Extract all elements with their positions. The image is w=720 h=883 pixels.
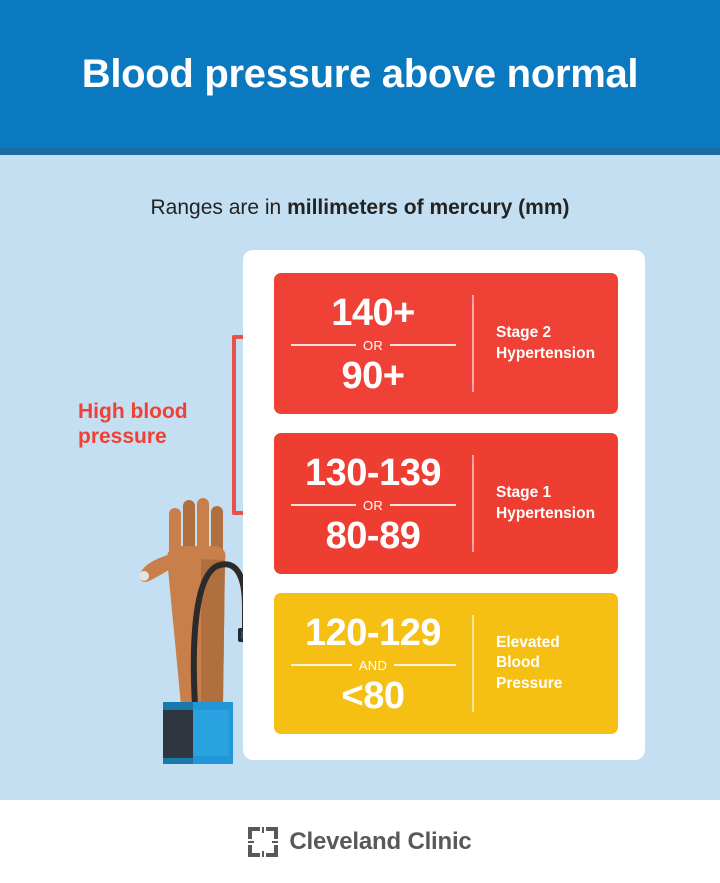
infographic-body: Ranges are in millimeters of mercury (mm… (0, 155, 720, 800)
high-blood-pressure-callout-label: High blood pressure (78, 400, 228, 450)
bp-ranges-panel: 140+ OR 90+ Stage 2 Hypertension 130-139… (243, 250, 645, 760)
brand-logo: Cleveland Clinic (248, 827, 471, 857)
header-underline-divider (0, 148, 720, 155)
divider-line-right (394, 664, 455, 666)
subtitle-emphasis: millimeters of mercury (mm) (287, 196, 569, 219)
category-label: Stage 2 Hypertension (496, 323, 595, 363)
divider-line-left (291, 664, 352, 666)
systolic-value: 140+ (331, 294, 415, 333)
bp-values-group: 130-139 OR 80-89 (274, 433, 472, 574)
category-label: Elevated Blood Pressure (496, 633, 562, 693)
table-row: 140+ OR 90+ Stage 2 Hypertension (274, 273, 618, 414)
conjunction-label: OR (356, 498, 390, 513)
category-label-wrap: Stage 2 Hypertension (474, 273, 618, 414)
diastolic-value: <80 (342, 677, 405, 716)
category-label-wrap: Stage 1 Hypertension (474, 433, 618, 574)
systolic-value: 130-139 (305, 454, 441, 493)
page-header: Blood pressure above normal (0, 0, 720, 148)
conjunction-label: AND (352, 658, 394, 673)
cleveland-clinic-pinwheel-icon (248, 827, 278, 857)
table-row: 120-129 AND <80 Elevated Blood Pressure (274, 593, 618, 734)
divider-line-right (390, 344, 455, 346)
table-row: 130-139 OR 80-89 Stage 1 Hypertension (274, 433, 618, 574)
divider-line-left (291, 504, 356, 506)
conjunction-divider: OR (291, 338, 456, 353)
subtitle-prefix: Ranges are in (150, 196, 287, 219)
subtitle: Ranges are in millimeters of mercury (mm… (0, 195, 720, 220)
bp-values-group: 140+ OR 90+ (274, 273, 472, 414)
category-label-wrap: Elevated Blood Pressure (474, 593, 618, 734)
conjunction-label: OR (356, 338, 390, 353)
divider-line-right (390, 504, 455, 506)
conjunction-divider: AND (291, 658, 456, 673)
bp-values-group: 120-129 AND <80 (274, 593, 472, 734)
diastolic-value: 80-89 (326, 517, 421, 556)
divider-line-left (291, 344, 356, 346)
page-title: Blood pressure above normal (82, 52, 639, 96)
brand-name: Cleveland Clinic (289, 828, 471, 856)
conjunction-divider: OR (291, 498, 456, 513)
category-label: Stage 1 Hypertension (496, 483, 595, 523)
systolic-value: 120-129 (305, 614, 441, 653)
diastolic-value: 90+ (342, 357, 405, 396)
page-footer: Cleveland Clinic (0, 800, 720, 883)
